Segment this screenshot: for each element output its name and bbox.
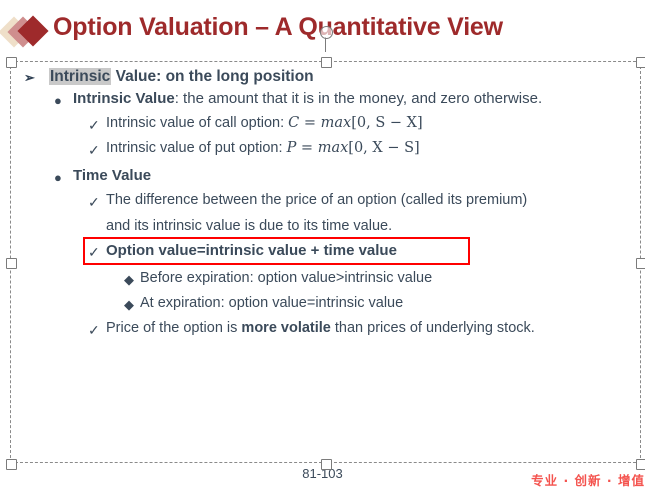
bullet-intrinsic-value-heading: Intrinsic Value: on the long position [49,69,314,85]
call-formula: C = max[0, S − X] [288,115,422,131]
put-open: [0, [348,140,372,156]
put-formula-label: Intrinsic value of put option: [106,140,287,156]
check-bullet-icon-2: ✓ [88,143,100,157]
put-close: ] [414,140,420,156]
bullet-before-expiration: Before expiration: option value>intrinsi… [140,271,432,286]
slide-canvas: Option Valuation – A Quantitative View ➢… [0,0,645,493]
title-diamond-decoration-icon [3,16,55,48]
put-var-b: S [404,140,414,156]
bullet-volatility: Price of the option is more volatile tha… [106,321,535,336]
resize-handle-middle-left[interactable] [6,258,17,269]
volatility-emphasis: more volatile [241,320,330,336]
check-bullet-icon-1: ✓ [88,118,100,132]
bullet-time-value-heading: Time Value [73,168,151,183]
dot-bullet-icon-1: ● [54,94,62,107]
volatility-pre: Price of the option is [106,320,241,336]
put-formula: P = max[0, X − S] [287,140,420,156]
check-bullet-icon-5: ✓ [88,323,100,337]
volatility-post: than prices of underlying stock. [331,320,535,336]
page-title: Option Valuation – A Quantitative View [53,13,503,42]
highlighted-term: Intrinsic [49,68,111,85]
red-highlight-box [83,237,470,265]
put-minus: − [383,140,404,156]
dot-bullet-icon-2: ● [54,171,62,184]
heading-rest: Value: on the long position [111,68,313,85]
call-eq: = [299,115,320,131]
diamond-bullet-icon-1: ◆ [124,273,134,286]
resize-handle-bottom-right[interactable] [636,459,645,470]
rotation-handle-stem [325,37,326,52]
diamond-bullet-icon-2: ◆ [124,298,134,311]
bullet-time-value-desc-line1: The difference between the price of an o… [106,193,527,208]
watermark-text: 专业 · 创新 · 增值 [531,470,645,489]
intrinsic-value-term: Intrinsic Value [73,90,175,107]
arrow-bullet-icon: ➢ [24,71,35,84]
resize-handle-bottom-center[interactable] [321,459,332,470]
bullet-at-expiration: At expiration: option value=intrinsic va… [140,296,403,311]
put-lhs: P [287,140,297,156]
resize-handle-top-left[interactable] [6,57,17,68]
call-lhs: C [288,115,299,131]
resize-handle-top-right[interactable] [636,57,645,68]
resize-handle-top-center[interactable] [321,57,332,68]
put-var-a: X [372,140,382,156]
call-minus: − [385,115,406,131]
resize-handle-bottom-left[interactable] [6,459,17,470]
intrinsic-value-desc: : the amount that it is in the money, an… [175,90,542,107]
resize-handle-middle-right[interactable] [636,258,645,269]
check-bullet-icon-3: ✓ [88,195,100,209]
call-fn: max [321,115,352,131]
call-var-a: S [375,115,385,131]
call-var-b: X [407,115,417,131]
bullet-time-value-desc-line2: and its intrinsic value is due to its ti… [106,219,392,234]
put-fn: max [318,140,349,156]
bullet-call-option-formula: Intrinsic value of call option: C = max[… [106,116,423,131]
call-open: [0, [351,115,375,131]
rotation-handle[interactable] [320,26,333,39]
call-formula-label: Intrinsic value of call option: [106,115,288,131]
bullet-intrinsic-value-def: Intrinsic Value: the amount that it is i… [73,91,542,106]
put-eq: = [296,140,317,156]
call-close: ] [417,115,423,131]
bullet-put-option-formula: Intrinsic value of put option: P = max[0… [106,141,420,156]
